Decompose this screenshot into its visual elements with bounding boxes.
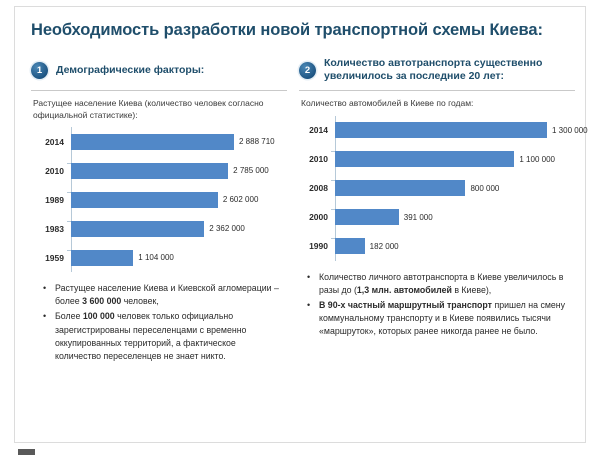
number-badge-1: 1 bbox=[31, 62, 48, 79]
chart-value-label: 1 100 000 bbox=[514, 155, 555, 164]
chart-category-label: 2008 bbox=[301, 183, 335, 193]
chart-value-label: 391 000 bbox=[399, 213, 433, 222]
chart-category-label: 2010 bbox=[33, 166, 71, 176]
chart-bar bbox=[71, 134, 234, 150]
chart-bar-area: 1 300 000 bbox=[335, 122, 588, 138]
chart-category-label: 1983 bbox=[33, 224, 71, 234]
chart-value-label: 2 602 000 bbox=[218, 195, 259, 204]
chart-bar bbox=[71, 250, 133, 266]
chart-value-label: 2 785 000 bbox=[228, 166, 269, 175]
window-chrome-mark bbox=[18, 449, 35, 455]
list-item: •В 90-х частный маршрутный транспорт при… bbox=[307, 299, 573, 339]
slide-canvas: Необходимость разработки новой транспорт… bbox=[14, 6, 586, 443]
column-right-heading: Количество автотранспорта существенно ув… bbox=[324, 57, 581, 83]
chart-value-label: 182 000 bbox=[365, 242, 399, 251]
chart-value-label: 2 362 000 bbox=[204, 224, 245, 233]
chart-bar-row: 20142 888 710 bbox=[33, 127, 293, 156]
chart-bar bbox=[71, 221, 204, 237]
chart-bar-area: 2 602 000 bbox=[71, 192, 293, 208]
chart-bar-row: 20101 100 000 bbox=[301, 145, 581, 174]
bullet-dot-icon: • bbox=[307, 299, 319, 312]
chart-bar-area: 2 362 000 bbox=[71, 221, 293, 237]
cars-chart: 20141 300 00020101 100 0002008800 000200… bbox=[293, 116, 581, 261]
chart-category-label: 2014 bbox=[301, 125, 335, 135]
column-left-header: 1 Демографические факторы: bbox=[25, 55, 293, 85]
chart-bar-row: 19591 104 000 bbox=[33, 243, 293, 272]
population-chart-rows: 20142 888 71020102 785 00019892 602 0001… bbox=[33, 127, 293, 272]
chart-bar-row: 19892 602 000 bbox=[33, 185, 293, 214]
chart-bar-area: 2 785 000 bbox=[71, 163, 293, 179]
chart-bar-row: 2008800 000 bbox=[301, 174, 581, 203]
chart-bar bbox=[335, 238, 365, 254]
chart-bar-row: 1990182 000 bbox=[301, 232, 581, 261]
number-badge-2: 2 bbox=[299, 62, 316, 79]
list-item-text: Количество личного автотранспорта в Киев… bbox=[319, 271, 573, 297]
list-item-text: Более 100 000 человек только официально … bbox=[55, 310, 283, 363]
chart-value-label: 2 888 710 bbox=[234, 137, 275, 146]
chart-bar-row: 20141 300 000 bbox=[301, 116, 581, 145]
chart-category-label: 2010 bbox=[301, 154, 335, 164]
list-item-text: В 90-х частный маршрутный транспорт приш… bbox=[319, 299, 573, 339]
bullet-list-demographics: •Растущее население Киева и Киевской агл… bbox=[25, 272, 293, 363]
chart-bar-area: 1 104 000 bbox=[71, 250, 293, 266]
chart-bar-row: 2000391 000 bbox=[301, 203, 581, 232]
list-item: •Более 100 000 человек только официально… bbox=[43, 310, 283, 363]
column-transport: 2 Количество автотранспорта существенно … bbox=[293, 55, 581, 341]
bullet-dot-icon: • bbox=[307, 271, 319, 284]
column-right-header: 2 Количество автотранспорта существенно … bbox=[293, 55, 581, 85]
chart-bar-area: 1 100 000 bbox=[335, 151, 581, 167]
chart-caption-population: Растущее население Киева (количество чел… bbox=[25, 91, 293, 121]
chart-axis-tick bbox=[331, 151, 335, 152]
chart-axis-tick bbox=[331, 180, 335, 181]
column-left-heading: Демографические факторы: bbox=[56, 64, 204, 77]
chart-bar-area: 182 000 bbox=[335, 238, 581, 254]
list-item-text: Растущее население Киева и Киевской агло… bbox=[55, 282, 283, 308]
list-item: •Растущее население Киева и Киевской агл… bbox=[43, 282, 283, 308]
bullet-dot-icon: • bbox=[43, 282, 55, 295]
chart-caption-cars: Количество автомобилей в Киеве по годам: bbox=[293, 91, 581, 110]
chart-bar-row: 20102 785 000 bbox=[33, 156, 293, 185]
chart-bar bbox=[335, 151, 514, 167]
chart-value-label: 1 300 000 bbox=[547, 126, 588, 135]
chart-bar-row: 19832 362 000 bbox=[33, 214, 293, 243]
chart-axis-tick bbox=[67, 163, 71, 164]
chart-category-label: 1989 bbox=[33, 195, 71, 205]
chart-category-label: 1990 bbox=[301, 241, 335, 251]
chart-category-label: 2000 bbox=[301, 212, 335, 222]
bullet-list-transport: •Количество личного автотранспорта в Кие… bbox=[293, 261, 581, 339]
bullet-dot-icon: • bbox=[43, 310, 55, 323]
chart-bar bbox=[335, 122, 547, 138]
list-item: •Количество личного автотранспорта в Кие… bbox=[307, 271, 573, 297]
page-title: Необходимость разработки новой транспорт… bbox=[31, 21, 571, 40]
chart-value-label: 1 104 000 bbox=[133, 253, 174, 262]
chart-bar bbox=[71, 163, 228, 179]
chart-bar bbox=[335, 180, 465, 196]
chart-category-label: 1959 bbox=[33, 253, 71, 263]
chart-axis-tick bbox=[67, 250, 71, 251]
chart-category-label: 2014 bbox=[33, 137, 71, 147]
chart-value-label: 800 000 bbox=[465, 184, 499, 193]
chart-bar bbox=[71, 192, 218, 208]
chart-axis-tick bbox=[331, 209, 335, 210]
chart-bar-area: 391 000 bbox=[335, 209, 581, 225]
chart-axis-tick bbox=[67, 221, 71, 222]
column-demographics: 1 Демографические факторы: Растущее насе… bbox=[25, 55, 293, 365]
chart-bar bbox=[335, 209, 399, 225]
chart-axis-tick bbox=[67, 192, 71, 193]
chart-axis-tick bbox=[331, 238, 335, 239]
population-chart: 20142 888 71020102 785 00019892 602 0001… bbox=[25, 127, 293, 272]
cars-chart-rows: 20141 300 00020101 100 0002008800 000200… bbox=[301, 116, 581, 261]
chart-bar-area: 800 000 bbox=[335, 180, 581, 196]
chart-bar-area: 2 888 710 bbox=[71, 134, 293, 150]
